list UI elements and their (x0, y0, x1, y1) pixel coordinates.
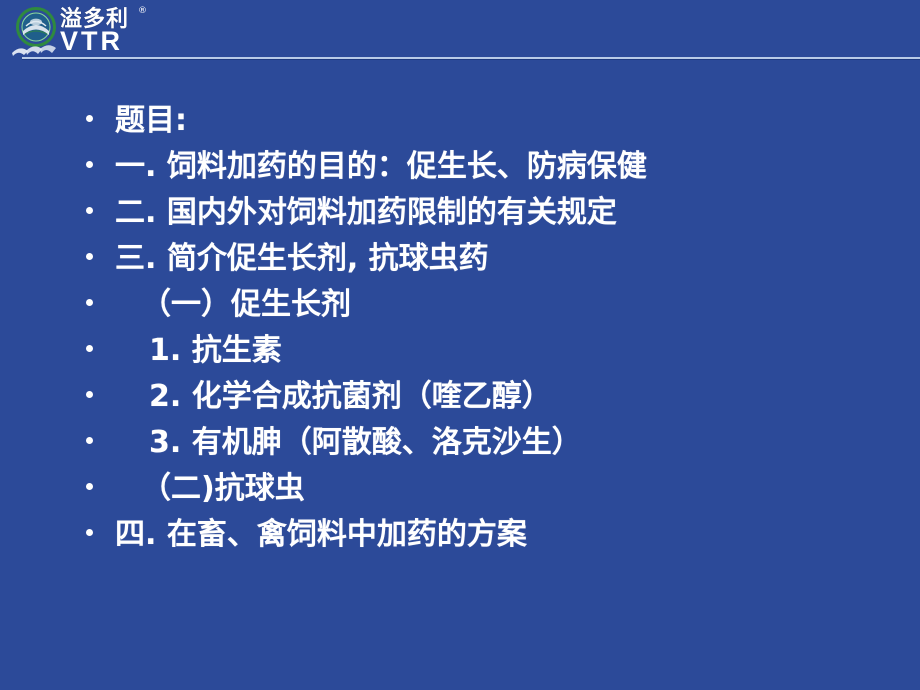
slide-body: 题目: 一. 饲料加药的目的：促生长、防病保健 二. 国内外对饲料加药限制的有关… (0, 98, 920, 618)
bullet-dot-icon (86, 529, 93, 536)
bullet-dot-icon (86, 207, 93, 214)
list-item: 题目: (0, 98, 920, 144)
logo-wordmark: 溢多利 ® VTR (60, 5, 165, 57)
list-item-label: 四. 在畜、禽饲料中加药的方案 (115, 512, 527, 558)
bullet-dot-icon (86, 345, 93, 352)
list-item: （一）促生长剂 (0, 282, 920, 328)
list-item-label: 一. 饲料加药的目的：促生长、防病保健 (115, 144, 647, 190)
list-item-label: 二. 国内外对饲料加药限制的有关规定 (115, 190, 617, 236)
logo-swoosh-icon (10, 37, 66, 57)
bullet-dot-icon (86, 115, 93, 122)
list-item: 一. 饲料加药的目的：促生长、防病保健 (0, 144, 920, 190)
slide-header-band: 溢多利 ® VTR (0, 0, 920, 62)
list-item-label: 三. 简介促生长剂, 抗球虫药 (115, 236, 489, 282)
bullet-dot-icon (86, 253, 93, 260)
bullet-dot-icon (86, 437, 93, 444)
bullet-dot-icon (86, 391, 93, 398)
presentation-slide: 溢多利 ® VTR 题目: 一. 饲料加药的目的：促生长、防病保健 二. 国内外… (0, 0, 920, 690)
logo-brand-latin: VTR (60, 27, 123, 55)
bullet-dot-icon (86, 299, 93, 306)
list-item: 1. 抗生素 (0, 328, 920, 374)
list-item: 四. 在畜、禽饲料中加药的方案 (0, 512, 920, 558)
list-item: 三. 简介促生长剂, 抗球虫药 (0, 236, 920, 282)
list-item-label: （二)抗球虫 (141, 466, 305, 512)
list-item-label: （一）促生长剂 (141, 282, 351, 328)
bullet-dot-icon (86, 483, 93, 490)
list-item: 3. 有机胂（阿散酸、洛克沙生） (0, 420, 920, 466)
list-item: 二. 国内外对饲料加药限制的有关规定 (0, 190, 920, 236)
company-logo: 溢多利 ® VTR (8, 3, 168, 59)
list-item-label: 3. 有机胂（阿散酸、洛克沙生） (149, 420, 582, 466)
list-item-label: 2. 化学合成抗菌剂（喹乙醇） (149, 374, 552, 420)
registered-trademark-icon: ® (138, 7, 147, 16)
list-item: （二)抗球虫 (0, 466, 920, 512)
bullet-dot-icon (86, 161, 93, 168)
header-divider-shadow (22, 59, 920, 60)
list-item: 2. 化学合成抗菌剂（喹乙醇） (0, 374, 920, 420)
list-item-label: 题目: (115, 98, 187, 144)
list-item-label: 1. 抗生素 (149, 328, 282, 374)
